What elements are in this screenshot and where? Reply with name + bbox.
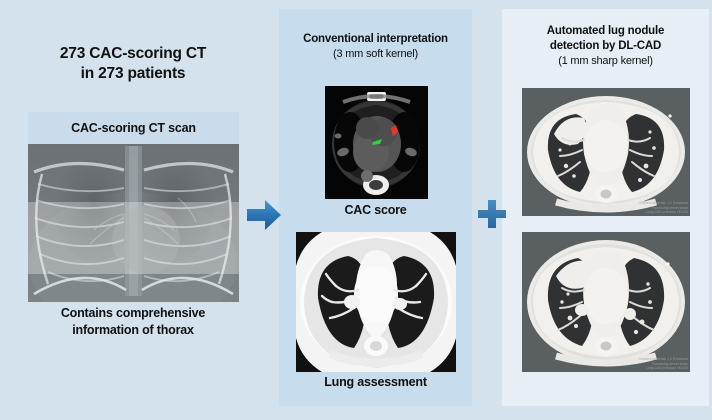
- middle-heading-sub: (3 mm soft kernel): [279, 47, 472, 61]
- lung-assessment-caption: Lung assessment: [279, 375, 472, 389]
- plus-icon: [477, 199, 507, 229]
- right-heading-line2: detection by DL-CAD: [502, 39, 709, 54]
- dlcad-chest-ct-axial-lower: Gradient Materials 1.0 Enhanced Processi…: [522, 232, 690, 372]
- left-caption: Contains comprehensive information of th…: [14, 305, 252, 339]
- cardiac-ct-axial-calcium-scoring: [325, 86, 428, 199]
- left-title-line2: in 273 patients: [81, 65, 186, 82]
- left-caption-line2: information of thorax: [72, 323, 194, 337]
- right-heading-line1: Automated lug nodule: [502, 24, 709, 39]
- left-caption-line1: Contains comprehensive: [61, 306, 205, 320]
- right-heading-sub: (1 mm sharp kernel): [502, 54, 709, 68]
- right-panel-heading: Automated lug nodule detection by DL-CAD…: [502, 24, 709, 68]
- middle-panel-heading: Conventional interpretation (3 mm soft k…: [279, 32, 472, 61]
- middle-heading-main: Conventional interpretation: [279, 32, 472, 47]
- dlcad-chest-ct-axial-upper: Gradient Materials 1.0 Enhanced Processi…: [522, 88, 690, 216]
- arrow-right-icon: [246, 198, 282, 232]
- workflow-figure: 273 CAC-scoring CT in 273 patients CAC-s…: [0, 0, 712, 420]
- left-title: 273 CAC-scoring CT in 273 patients: [14, 44, 252, 85]
- chest-ct-axial-lung-window: [296, 232, 456, 372]
- left-title-line1: 273 CAC-scoring CT: [60, 45, 206, 62]
- cac-scoring-scan-label: CAC-scoring CT scan: [28, 112, 239, 144]
- cac-score-caption: CAC score: [279, 203, 472, 217]
- chest-topogram-scout-radiograph: [28, 144, 239, 302]
- cac-scoring-scan-block: CAC-scoring CT scan: [28, 112, 239, 302]
